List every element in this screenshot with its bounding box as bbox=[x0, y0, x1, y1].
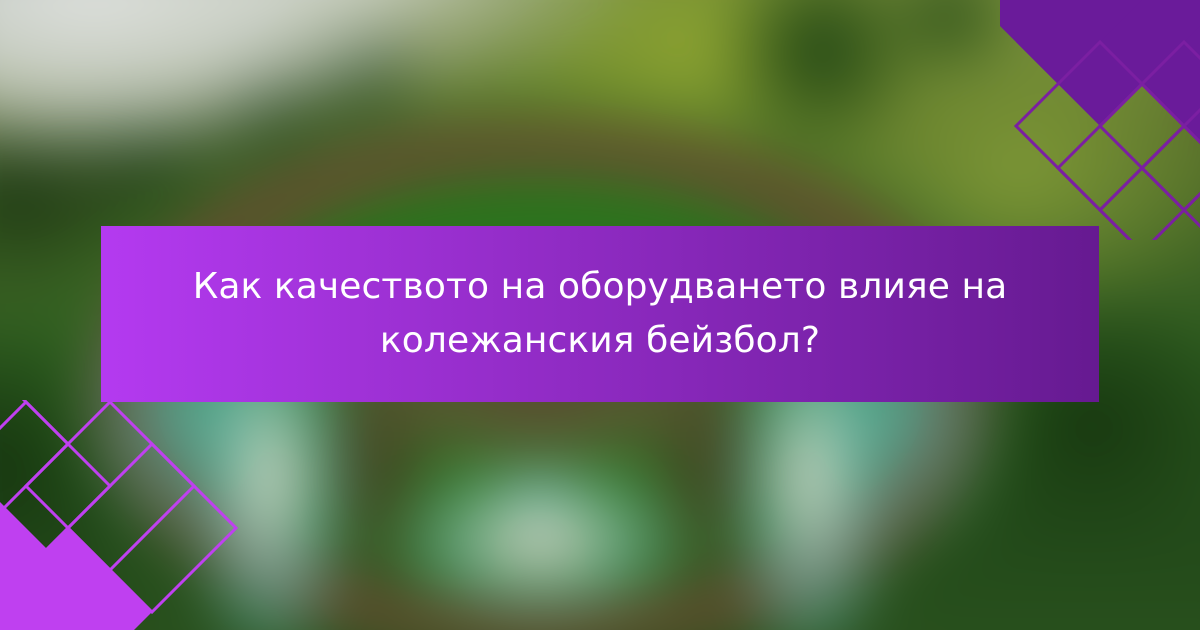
title-banner: Как качеството на оборудването влияе на … bbox=[101, 226, 1099, 402]
banner-image-canvas: Как качеството на оборудването влияе на … bbox=[0, 0, 1200, 630]
page-title: Как качеството на оборудването влияе на … bbox=[161, 260, 1039, 368]
